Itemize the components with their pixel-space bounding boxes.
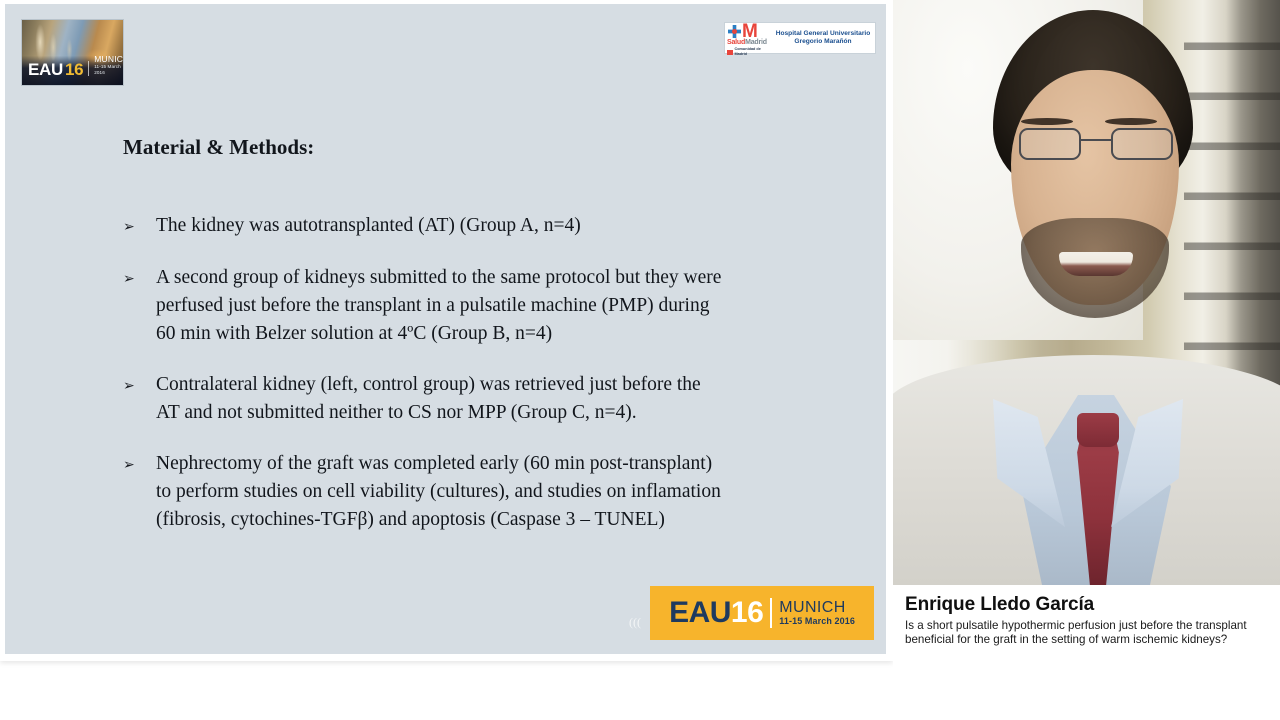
glasses-lens-right bbox=[1111, 128, 1173, 160]
arrow-bullet-icon: ➢ bbox=[123, 450, 156, 479]
slide-bullet-list: ➢ The kidney was autotransplanted (AT) (… bbox=[123, 212, 853, 557]
comunidad-madrid-block: Comunidad de Madrid bbox=[727, 47, 771, 57]
slide-frame: EAU 16 MUNICH 11-15 March 2016 M SaludMa… bbox=[0, 0, 893, 661]
saludmadrid-wordmark: SaludMadrid bbox=[727, 39, 767, 47]
speaker-mouth bbox=[1059, 252, 1133, 276]
bullet-text: Contralateral kidney (left, control grou… bbox=[156, 371, 701, 427]
eau-city: MUNICH bbox=[94, 55, 124, 64]
speaker-glasses bbox=[1013, 128, 1179, 162]
bullet-line: to perform studies on cell viability (cu… bbox=[156, 478, 721, 506]
slide-canvas: EAU 16 MUNICH 11-15 March 2016 M SaludMa… bbox=[5, 4, 886, 654]
eau-year: 16 bbox=[65, 62, 83, 77]
glasses-bridge bbox=[1081, 139, 1111, 141]
brand-madrid: Madrid bbox=[745, 39, 767, 46]
bullet-line: 60 min with Belzer solution at 4ºC (Grou… bbox=[156, 320, 721, 348]
divider bbox=[88, 61, 89, 76]
list-item: ➢ A second group of kidneys submitted to… bbox=[123, 264, 853, 348]
bullet-line: Nephrectomy of the graft was completed e… bbox=[156, 450, 721, 478]
bullet-line: AT and not submitted neither to CS nor M… bbox=[156, 399, 701, 427]
bullet-line: Contralateral kidney (left, control grou… bbox=[156, 371, 701, 399]
speaker-video-feed[interactable] bbox=[893, 0, 1280, 585]
banner-city-block: MUNICH 11-15 March 2016 bbox=[779, 599, 855, 627]
hospital-logo: M SaludMadrid Comunidad de Madrid Hospit… bbox=[724, 22, 876, 54]
speaker-eyebrow-left bbox=[1021, 118, 1073, 125]
eau-wordmark: EAU bbox=[28, 62, 63, 77]
bullet-line: A second group of kidneys submitted to t… bbox=[156, 264, 721, 292]
bullet-text: A second group of kidneys submitted to t… bbox=[156, 264, 721, 348]
speaker-eyebrow-right bbox=[1105, 118, 1157, 125]
speaker-info-panel: Enrique Lledo García Is a short pulsatil… bbox=[893, 585, 1280, 671]
arrow-bullet-icon: ➢ bbox=[123, 371, 156, 400]
bullet-text: Nephrectomy of the graft was completed e… bbox=[156, 450, 721, 534]
eau16-footer-banner: EAU 16 MUNICH 11-15 March 2016 bbox=[650, 586, 874, 640]
banner-city: MUNICH bbox=[779, 599, 855, 616]
speaker-tie-knot bbox=[1077, 413, 1119, 447]
banner-year: 16 bbox=[731, 598, 763, 628]
divider bbox=[770, 598, 772, 628]
list-item: ➢ The kidney was autotransplanted (AT) (… bbox=[123, 212, 853, 241]
hospital-logo-mark: M SaludMadrid Comunidad de Madrid bbox=[725, 23, 771, 53]
banner-dates: 11-15 March 2016 bbox=[779, 616, 855, 627]
bullet-line: The kidney was autotransplanted (AT) (Gr… bbox=[156, 212, 581, 240]
region-flag-bar bbox=[727, 50, 733, 55]
region-label: Comunidad de Madrid bbox=[735, 47, 772, 57]
presentation-title: Is a short pulsatile hypothermic perfusi… bbox=[905, 619, 1265, 647]
list-item: ➢ Contralateral kidney (left, control gr… bbox=[123, 371, 853, 427]
list-item: ➢ Nephrectomy of the graft was completed… bbox=[123, 450, 853, 534]
hospital-name-line1: Hospital General Universitario bbox=[776, 30, 871, 38]
medical-cross-icon bbox=[728, 25, 741, 38]
speaker-name: Enrique Lledo García bbox=[905, 593, 1268, 616]
arrow-bullet-icon: ➢ bbox=[123, 264, 156, 293]
brand-salud: Salud bbox=[727, 39, 745, 46]
banner-eau-wordmark: EAU bbox=[669, 598, 731, 628]
presentation-viewer: EAU 16 MUNICH 11-15 March 2016 M SaludMa… bbox=[0, 0, 1280, 720]
bullet-line: perfused just before the transplant in a… bbox=[156, 292, 721, 320]
slide-watermark: ((( bbox=[629, 615, 641, 630]
eau16-logo-text: EAU 16 MUNICH 11-15 March 2016 bbox=[28, 55, 124, 77]
arrow-bullet-icon: ➢ bbox=[123, 212, 156, 241]
bullet-text: The kidney was autotransplanted (AT) (Gr… bbox=[156, 212, 581, 240]
eau-city-block: MUNICH 11-15 March 2016 bbox=[94, 55, 124, 77]
eau-dates: 11-15 March 2016 bbox=[94, 64, 124, 76]
hospital-name-block: Hospital General Universitario Gregorio … bbox=[771, 23, 875, 53]
eau16-conference-logo: EAU 16 MUNICH 11-15 March 2016 bbox=[21, 19, 124, 86]
slide-title: Material & Methods: bbox=[123, 134, 314, 160]
glasses-lens-left bbox=[1019, 128, 1081, 160]
hospital-name-line2: Gregorio Marañón bbox=[794, 38, 851, 46]
bullet-line: (fibrosis, cytochines-TGFβ) and apoptosi… bbox=[156, 506, 721, 534]
